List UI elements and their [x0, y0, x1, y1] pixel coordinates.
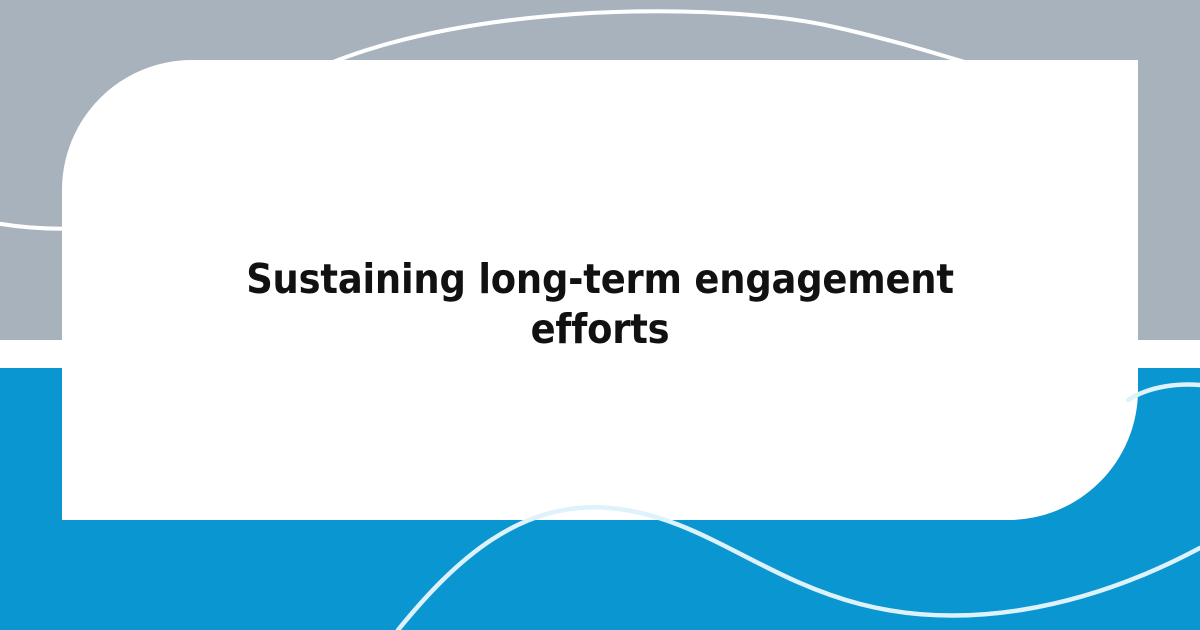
social-card-canvas: Sustaining long-term engagement efforts: [0, 0, 1200, 630]
page-title: Sustaining long-term engagement efforts: [200, 254, 1000, 354]
headline-container: Sustaining long-term engagement efforts: [62, 60, 1138, 520]
